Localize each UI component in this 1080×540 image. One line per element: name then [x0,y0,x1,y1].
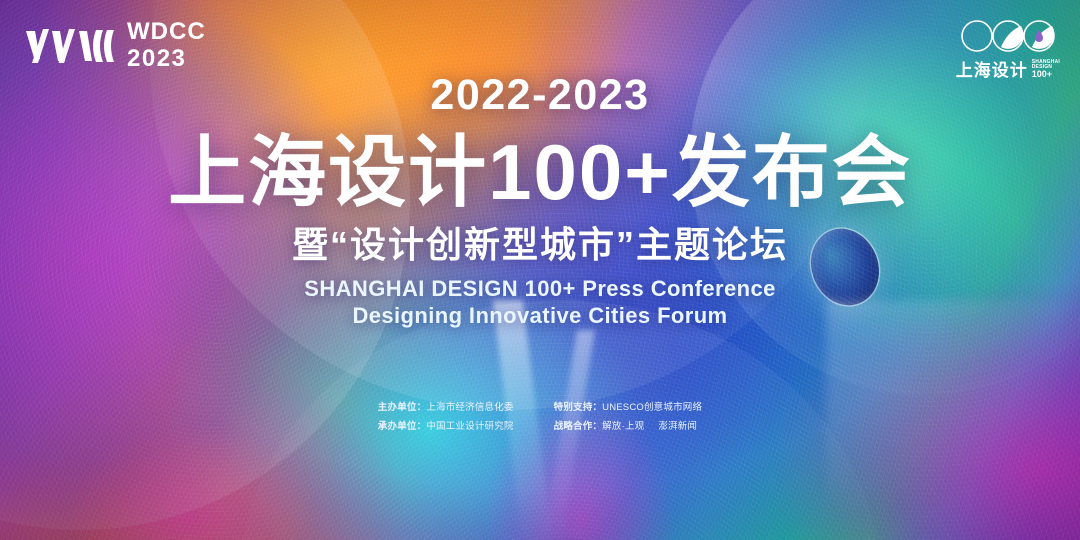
credit-row: 主办单位：上海市经济信息化委 [378,398,514,417]
poster-key-visual: WDCC 2023 上海设计 SHANGHAI [0,0,1080,540]
wdcc-monogram-icon [24,25,116,67]
credit-label: 战略合作： [554,421,603,432]
credit-label: 承办单位： [378,421,427,432]
year-range: 2022-2023 [0,74,1080,117]
subtitle-english: SHANGHAI DESIGN 100+ Press Conference De… [0,276,1080,330]
shanghai-design-three-circles-icon [960,16,1056,56]
credit-value: 中国工业设计研究院 [426,421,513,432]
shanghai-design-logo: 上海设计 SHANGHAI DESIGN 100+ [956,16,1060,79]
credits-column-left: 主办单位：上海市经济信息化委 承办单位：中国工业设计研究院 [378,398,514,436]
credit-row: 特别支持：UNESCO创意城市网络 [554,398,703,417]
credit-value: UNESCO创意城市网络 [602,402,702,413]
subtitle-english-line-2: Designing Innovative Cities Forum [0,303,1080,330]
credit-value-secondary: 澎湃新闻 [658,421,697,432]
wdcc-line-2: 2023 [127,47,206,71]
subtitle-chinese: 暨“设计创新型城市”主题论坛 [0,226,1080,264]
page-title: 上海设计100+发布会 [0,133,1080,213]
credit-label: 特别支持： [554,402,603,413]
title-block: 2022-2023 上海设计100+发布会 暨“设计创新型城市”主题论坛 SHA… [0,74,1080,330]
poster-content: WDCC 2023 上海设计 SHANGHAI [0,0,1080,540]
wdcc-line-1: WDCC [127,20,206,44]
credit-row: 战略合作：解放·上观澎湃新闻 [554,417,703,436]
credits-column-right: 特别支持：UNESCO创意城市网络 战略合作：解放·上观澎湃新闻 [554,398,703,436]
credit-label: 主办单位： [378,402,427,413]
subtitle-english-line-1: SHANGHAI DESIGN 100+ Press Conference [304,276,775,301]
credit-value: 解放·上观 [602,421,644,432]
wdcc-wordmark: WDCC 2023 [127,20,206,71]
credit-row: 承办单位：中国工业设计研究院 [378,417,514,436]
credit-value: 上海市经济信息化委 [426,402,513,413]
wdcc-logo-lockup: WDCC 2023 [24,20,206,71]
credits-block: 主办单位：上海市经济信息化委 承办单位：中国工业设计研究院 特别支持：UNESC… [0,398,1080,436]
